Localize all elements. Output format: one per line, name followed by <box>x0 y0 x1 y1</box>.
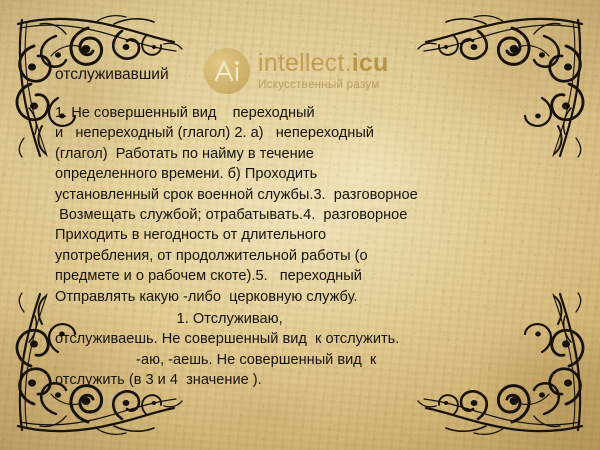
definition-text: 1. Не совершенный вид переходный и непер… <box>55 103 555 307</box>
dictionary-entry-page: intellect.icu Искусственный разум отслуж… <box>0 0 600 450</box>
headword: отслуживавший <box>55 64 555 86</box>
grammatical-forms-text: 1. Отслуживаю, отслуживаешь. Не совершен… <box>55 309 555 391</box>
dictionary-article: отслуживавший 1. Не совершенный вид пере… <box>55 64 555 391</box>
